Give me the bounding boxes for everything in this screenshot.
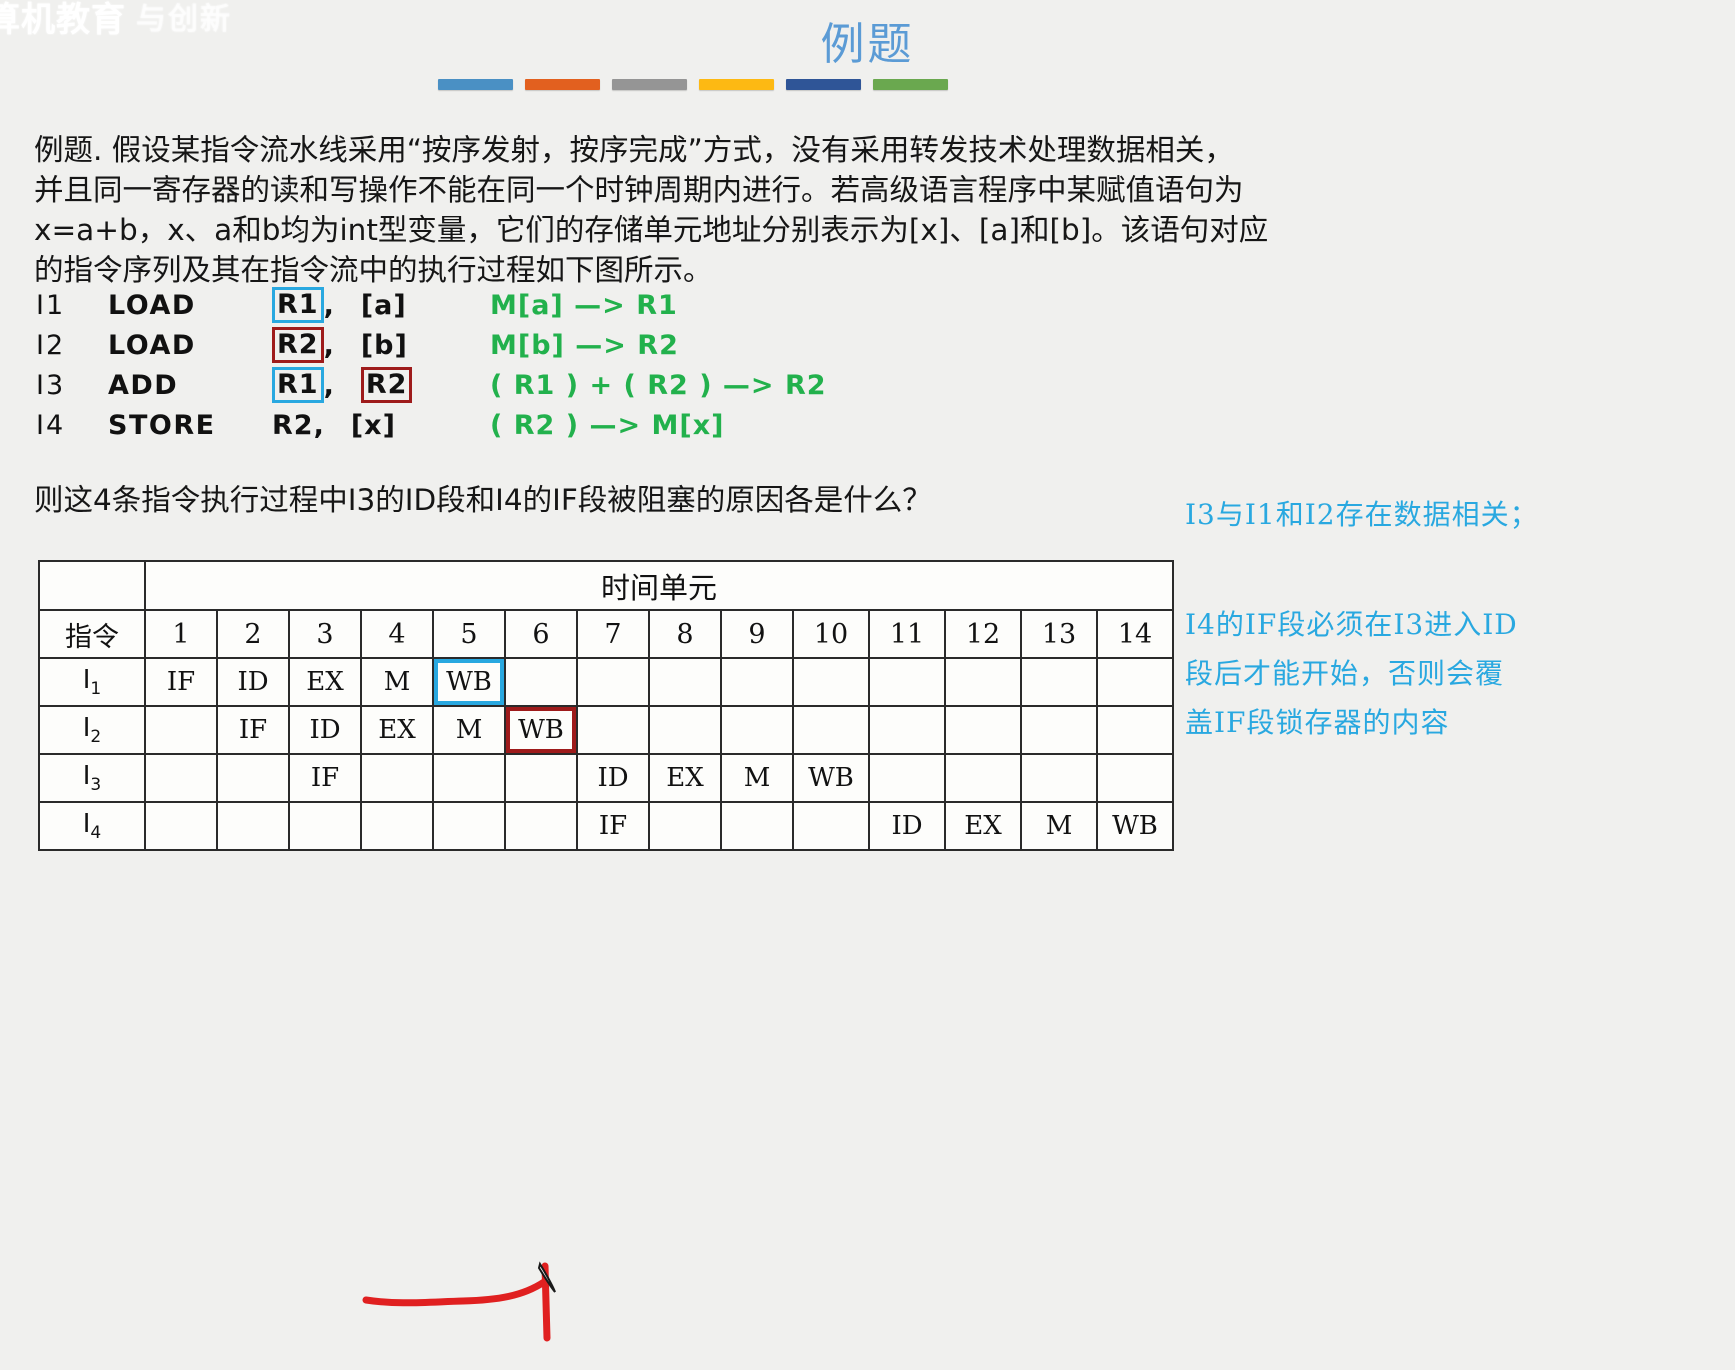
- pipeline-stage-cell: [869, 754, 945, 802]
- problem-statement: 例题. 假设某指令流水线采用“按序发射，按序完成”方式，没有采用转发技术处理数据…: [34, 130, 1394, 290]
- pipeline-stage-cell: [505, 802, 577, 850]
- pipeline-stage-text: [870, 659, 944, 705]
- pipeline-stage-cell: [1021, 754, 1097, 802]
- instruction-semantics: M[a] —> R1: [490, 290, 678, 321]
- bar-gray: [612, 79, 687, 90]
- pipeline-stage-text: [1098, 659, 1172, 705]
- pipeline-stage-text: M: [1022, 803, 1096, 849]
- pipeline-stage-text: [434, 755, 504, 801]
- instruction-operands: R2,[x]: [272, 410, 472, 441]
- explanation-note-2: I4的IF段必须在I3进入ID 段后才能开始，否则会覆 盖IF段锁存器的内容: [1185, 600, 1715, 747]
- pipeline-stage-text: EX: [290, 659, 360, 705]
- pipeline-stage-text: [870, 755, 944, 801]
- operand-separator: ,: [324, 330, 335, 361]
- pipeline-stage-text: [650, 707, 720, 753]
- pipeline-stage-cell: [721, 802, 793, 850]
- pipeline-stage-cell: IF: [217, 706, 289, 754]
- table-row: I4IFIDEXMWB: [39, 802, 1173, 850]
- pipeline-stage-text: [362, 755, 432, 801]
- cycle-header-cell: 3: [289, 610, 361, 658]
- hand-drawn-stall-arrow: [358, 1260, 658, 1370]
- pipeline-stage-text: M: [362, 659, 432, 705]
- operand-register-1: R2: [272, 410, 314, 441]
- pipeline-stage-cell: [649, 706, 721, 754]
- pipeline-stage-text: EX: [362, 707, 432, 753]
- pipeline-stage-cell: M: [433, 706, 505, 754]
- pipeline-stage-text: ID: [578, 755, 648, 801]
- operand-register-2: R2: [361, 367, 413, 403]
- pipeline-stage-text: WB: [434, 659, 504, 705]
- pipeline-stage-cell: [217, 754, 289, 802]
- cycle-header-cell: 11: [869, 610, 945, 658]
- operand-register-1: R2: [272, 327, 324, 363]
- cycle-header-cell: 1: [145, 610, 217, 658]
- pipeline-stage-cell: ID: [289, 706, 361, 754]
- pipeline-stage-text: [794, 803, 868, 849]
- table-header-span-row: 时间单元: [39, 561, 1173, 610]
- pipeline-stage-cell: ID: [217, 658, 289, 706]
- cycle-header-cell: 9: [721, 610, 793, 658]
- operand-separator: ,: [324, 370, 335, 401]
- pipeline-stage-cell: [1021, 658, 1097, 706]
- pipeline-stage-cell: [649, 658, 721, 706]
- instruction-row: I3ADDR1,R2( R1 ) + ( R2 ) —> R2: [36, 365, 827, 405]
- instruction-opcode: STORE: [108, 410, 272, 441]
- instruction-semantics: M[b] —> R2: [490, 330, 679, 361]
- cycle-header-cell: 7: [577, 610, 649, 658]
- pipeline-stage-cell: M: [1021, 802, 1097, 850]
- pipeline-stage-text: M: [722, 755, 792, 801]
- pipeline-stage-cell: WB: [793, 754, 869, 802]
- explanation-note-2-line-2: 段后才能开始，否则会覆: [1185, 649, 1715, 698]
- pipeline-stage-cell: ID: [577, 754, 649, 802]
- pipeline-stage-cell-highlighted: WB: [433, 658, 505, 706]
- instruction-label: I3: [36, 370, 108, 401]
- explanation-note-1: I3与I1和I2存在数据相关；: [1185, 490, 1539, 539]
- pipeline-stage-text: IF: [146, 659, 216, 705]
- instruction-row: I2LOADR2,[b]M[b] —> R2: [36, 325, 827, 365]
- row-instruction-label: I4: [39, 802, 145, 850]
- pipeline-stage-cell: [945, 706, 1021, 754]
- pipeline-stage-cell: EX: [361, 706, 433, 754]
- table-row: I3IFIDEXMWB: [39, 754, 1173, 802]
- pipeline-stage-cell: [1097, 754, 1173, 802]
- operand-separator: ,: [324, 290, 335, 321]
- cycle-header-cell: 2: [217, 610, 289, 658]
- pipeline-stage-text: [722, 659, 792, 705]
- pipeline-stage-cell: EX: [649, 754, 721, 802]
- pipeline-stage-cell: [361, 754, 433, 802]
- pipeline-stage-cell: [577, 706, 649, 754]
- table-column-header-row: 指令1234567891011121314: [39, 610, 1173, 658]
- cycle-header-cell: 14: [1097, 610, 1173, 658]
- pipeline-stage-text: [1098, 755, 1172, 801]
- pipeline-stage-cell: IF: [145, 658, 217, 706]
- pipeline-stage-cell: IF: [577, 802, 649, 850]
- pipeline-stage-text: [722, 707, 792, 753]
- pipeline-stage-cell: EX: [945, 802, 1021, 850]
- pipeline-stage-text: [1098, 707, 1172, 753]
- pipeline-stage-text: [946, 659, 1020, 705]
- operand-register-2: [x]: [351, 410, 396, 441]
- pipeline-stage-cell: [505, 754, 577, 802]
- pipeline-stage-cell: [433, 802, 505, 850]
- problem-line-2: 并且同一寄存器的读和写操作不能在同一个时钟周期内进行。若高级语言程序中某赋值语句…: [34, 170, 1394, 210]
- decorative-color-bars: [438, 79, 948, 90]
- pipeline-stage-cell: [721, 658, 793, 706]
- problem-line-1: 例题. 假设某指令流水线采用“按序发射，按序完成”方式，没有采用转发技术处理数据…: [34, 130, 1394, 170]
- operand-separator: ,: [314, 410, 325, 441]
- pipeline-stage-cell: [1097, 658, 1173, 706]
- instruction-row: I1LOADR1,[a]M[a] —> R1: [36, 285, 827, 325]
- pipeline-stage-text: IF: [290, 755, 360, 801]
- pipeline-stage-cell-highlighted: WB: [505, 706, 577, 754]
- pipeline-stage-cell: ID: [869, 802, 945, 850]
- pipeline-stage-text: [650, 659, 720, 705]
- pipeline-stage-text: [146, 803, 216, 849]
- pipeline-stage-text: EX: [946, 803, 1020, 849]
- row-label-subscript: 1: [90, 679, 101, 699]
- bar-orange: [525, 79, 600, 90]
- pipeline-stage-cell: EX: [289, 658, 361, 706]
- pipeline-stage-cell: [505, 658, 577, 706]
- pipeline-stage-cell: [433, 754, 505, 802]
- pipeline-stage-text: [146, 707, 216, 753]
- pipeline-stage-cell: [793, 802, 869, 850]
- pipeline-stage-text: [1022, 755, 1096, 801]
- instruction-operands: R1,[a]: [272, 287, 472, 323]
- pipeline-stage-cell: [869, 658, 945, 706]
- pipeline-stage-cell: [145, 754, 217, 802]
- pipeline-stage-text: [362, 803, 432, 849]
- pipeline-stage-text: [794, 707, 868, 753]
- time-unit-header: 时间单元: [145, 561, 1173, 610]
- pipeline-stage-text: [218, 755, 288, 801]
- cycle-header-cell: 8: [649, 610, 721, 658]
- pipeline-table: 时间单元指令1234567891011121314I1IFIDEXMWBI2IF…: [38, 560, 1174, 851]
- bar-green: [873, 79, 948, 90]
- pipeline-stage-cell: [1021, 706, 1097, 754]
- bar-yellow: [699, 79, 774, 90]
- instruction-row: I4STORER2,[x]( R2 ) —> M[x]: [36, 405, 827, 445]
- pipeline-stage-cell: [793, 658, 869, 706]
- problem-line-4: 的指令序列及其在指令流中的执行过程如下图所示。: [34, 250, 1394, 290]
- pipeline-stage-text: [1022, 659, 1096, 705]
- pipeline-stage-text: [290, 803, 360, 849]
- pipeline-stage-text: [506, 803, 576, 849]
- pipeline-stage-cell: [217, 802, 289, 850]
- bar-blue: [438, 79, 513, 90]
- instruction-opcode: LOAD: [108, 290, 272, 321]
- pipeline-stage-text: [946, 707, 1020, 753]
- cycle-header-cell: 13: [1021, 610, 1097, 658]
- pipeline-stage-cell: M: [721, 754, 793, 802]
- cycle-header-cell: 12: [945, 610, 1021, 658]
- pipeline-stage-text: [794, 659, 868, 705]
- cycle-header-cell: 4: [361, 610, 433, 658]
- pipeline-stage-cell: IF: [289, 754, 361, 802]
- row-label-subscript: 4: [90, 823, 101, 843]
- cycle-header-cell: 6: [505, 610, 577, 658]
- instruction-opcode: ADD: [108, 370, 272, 401]
- bar-navy: [786, 79, 861, 90]
- explanation-note-2-line-1: I4的IF段必须在I3进入ID: [1185, 600, 1715, 649]
- operand-register-1: R1: [272, 287, 324, 323]
- pipeline-stage-cell: [361, 802, 433, 850]
- page-title: 例题: [0, 8, 1735, 72]
- pipeline-stage-text: [578, 659, 648, 705]
- pipeline-stage-cell: [1097, 706, 1173, 754]
- pipeline-stage-cell: [145, 802, 217, 850]
- pipeline-stage-cell: [945, 658, 1021, 706]
- problem-line-3: x=a+b，x、a和b均为int型变量，它们的存储单元地址分别表示为[x]、[a…: [34, 210, 1394, 250]
- pipeline-stage-cell: [577, 658, 649, 706]
- row-label-subscript: 3: [90, 775, 101, 795]
- pipeline-stage-cell: WB: [1097, 802, 1173, 850]
- row-instruction-label: I3: [39, 754, 145, 802]
- pipeline-stage-text: ID: [870, 803, 944, 849]
- pipeline-stage-text: [1022, 707, 1096, 753]
- pipeline-stage-text: [946, 755, 1020, 801]
- pipeline-stage-text: [434, 803, 504, 849]
- instruction-label: I4: [36, 410, 108, 441]
- question-line: 则这4条指令执行过程中I3的ID段和I4的IF段被阻塞的原因各是什么？: [34, 477, 932, 519]
- instruction-label: I1: [36, 290, 108, 321]
- table-row: I2IFIDEXMWB: [39, 706, 1173, 754]
- pipeline-stage-text: ID: [218, 659, 288, 705]
- instruction-column-header: 指令: [39, 610, 145, 658]
- pipeline-stage-text: [722, 803, 792, 849]
- pipeline-stage-cell: M: [361, 658, 433, 706]
- pipeline-stage-cell: [793, 706, 869, 754]
- pipeline-stage-text: IF: [218, 707, 288, 753]
- cycle-header-cell: 10: [793, 610, 869, 658]
- pipeline-stage-text: [506, 755, 576, 801]
- pipeline-stage-text: M: [434, 707, 504, 753]
- pipeline-stage-cell: [649, 802, 721, 850]
- pipeline-stage-text: WB: [794, 755, 868, 801]
- instruction-opcode: LOAD: [108, 330, 272, 361]
- pipeline-stage-text: [146, 755, 216, 801]
- instruction-listing: I1LOADR1,[a]M[a] —> R1I2LOADR2,[b]M[b] —…: [36, 285, 827, 445]
- instruction-semantics: ( R1 ) + ( R2 ) —> R2: [490, 370, 827, 401]
- row-instruction-label: I2: [39, 706, 145, 754]
- cycle-header-cell: 5: [433, 610, 505, 658]
- instruction-label: I2: [36, 330, 108, 361]
- explanation-note-2-line-3: 盖IF段锁存器的内容: [1185, 698, 1715, 747]
- instruction-semantics: ( R2 ) —> M[x]: [490, 410, 724, 441]
- pipeline-stage-cell: [289, 802, 361, 850]
- pipeline-stage-text: WB: [506, 707, 576, 753]
- instruction-operands: R1,R2: [272, 367, 472, 403]
- operand-register-1: R1: [272, 367, 324, 403]
- pipeline-stage-text: IF: [578, 803, 648, 849]
- pipeline-stage-text: [578, 707, 648, 753]
- pipeline-stage-cell: [145, 706, 217, 754]
- pipeline-stage-text: [506, 659, 576, 705]
- pipeline-stage-text: WB: [1098, 803, 1172, 849]
- row-label-subscript: 2: [90, 727, 101, 747]
- row-instruction-label: I1: [39, 658, 145, 706]
- pipeline-stage-text: [870, 707, 944, 753]
- pipeline-stage-text: EX: [650, 755, 720, 801]
- pipeline-stage-text: ID: [290, 707, 360, 753]
- pipeline-diagram: 时间单元指令1234567891011121314I1IFIDEXMWBI2IF…: [38, 560, 1174, 851]
- operand-register-2: [a]: [361, 290, 407, 321]
- pipeline-stage-text: [650, 803, 720, 849]
- instruction-operands: R2,[b]: [272, 327, 472, 363]
- pipeline-stage-text: [218, 803, 288, 849]
- pipeline-stage-cell: [721, 706, 793, 754]
- pipeline-stage-cell: [869, 706, 945, 754]
- operand-register-2: [b]: [361, 330, 408, 361]
- table-row: I1IFIDEXMWB: [39, 658, 1173, 706]
- pipeline-stage-cell: [945, 754, 1021, 802]
- table-corner-cell: [39, 561, 145, 610]
